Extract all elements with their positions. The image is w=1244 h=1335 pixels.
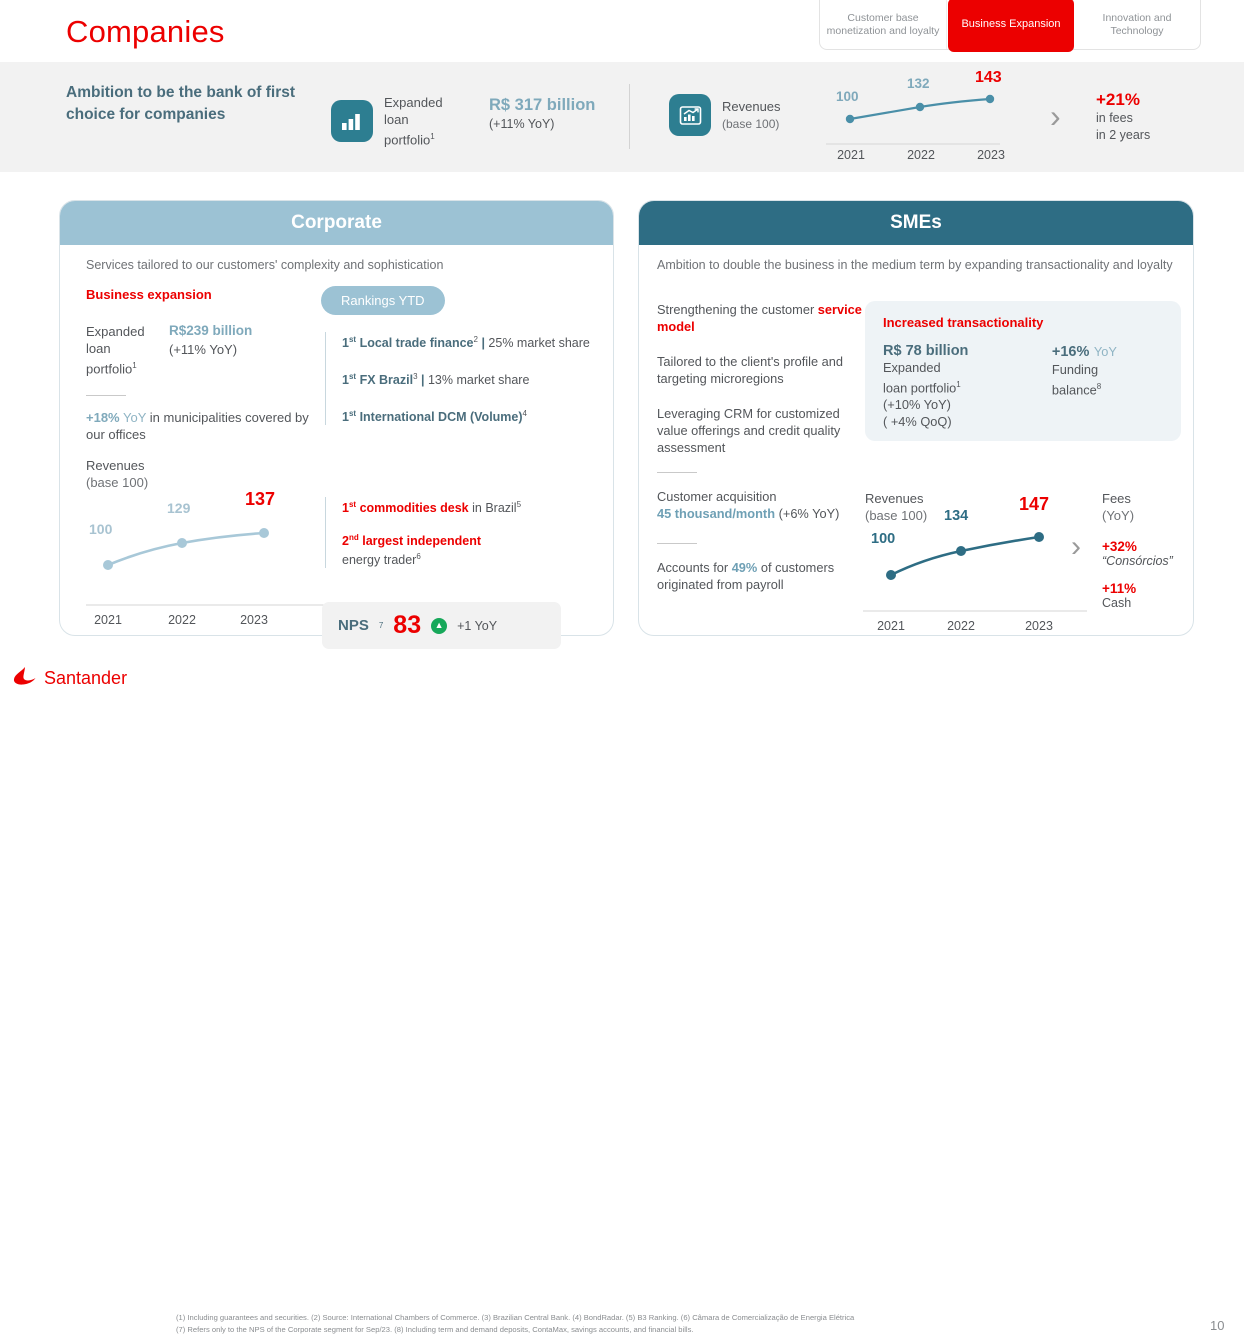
ranking-2-detail: 13% market share bbox=[428, 373, 529, 387]
kpi-loan-label: Expanded loan portfolio1 bbox=[384, 94, 456, 148]
kpi-revenues-sublabel: (base 100) bbox=[722, 117, 779, 131]
highlight-2-rank: 2 bbox=[342, 534, 349, 548]
corporate-loan-value-group: R$239 billion (+11% YoY) bbox=[169, 323, 252, 358]
ranking-item-fx-brazil: 1st FX Brazil3 | 13% market share bbox=[342, 369, 617, 388]
chart-smes-value-2021: 100 bbox=[871, 531, 895, 547]
corporate-municipalities-text: in municipalities covered by our offices bbox=[86, 410, 309, 442]
corporate-loan-l1: Expanded bbox=[86, 324, 145, 339]
page-title: Companies bbox=[66, 14, 225, 50]
transactionality-left-footnote-ref: 1 bbox=[956, 380, 960, 389]
rankings-ytd-pill: Rankings YTD bbox=[321, 286, 445, 315]
chart-header-value-2021: 100 bbox=[836, 89, 859, 104]
corporate-loan-l2: loan bbox=[86, 341, 111, 356]
corporate-rankings-pill-wrap: Rankings YTD bbox=[321, 286, 445, 315]
smes-lead: Ambition to double the business in the m… bbox=[657, 257, 1185, 274]
tab-customer-base-monetization[interactable]: Customer base monetization and loyalty bbox=[820, 0, 946, 49]
footnote-line-2: (7) Refers only to the NPS of the Corpor… bbox=[176, 1324, 1176, 1335]
ranking-2-ord: st bbox=[349, 372, 356, 381]
highlight-commodities-desk: 1st commodities desk in Brazil5 bbox=[342, 497, 617, 516]
bar-chart-icon bbox=[331, 100, 373, 142]
panel-corporate-body: Services tailored to our customers' comp… bbox=[60, 245, 613, 637]
ranking-2-sep: | bbox=[421, 373, 425, 387]
smes-fees-label-group: Fees (YoY) bbox=[1102, 490, 1134, 524]
highlight-1-rank: 1 bbox=[342, 501, 349, 515]
kpi-revenues: Revenues (base 100) bbox=[669, 94, 781, 136]
transactionality-left-l3: (+10% YoY) bbox=[883, 397, 951, 412]
smes-acq-value: 45 thousand/month bbox=[657, 506, 775, 521]
chart-corporate-revenues: 100 129 137 2021 2022 2023 bbox=[84, 495, 352, 635]
highlight-2-ord: nd bbox=[349, 533, 359, 542]
panel-corporate: Corporate Services tailored to our custo… bbox=[59, 200, 614, 636]
panel-smes-title: SMEs bbox=[639, 201, 1193, 245]
nps-box: NPS7 83 ▲ +1 YoY bbox=[322, 602, 561, 649]
corporate-business-expansion-title: Business expansion bbox=[86, 287, 212, 302]
corporate-revenues-label: Revenues bbox=[86, 458, 145, 473]
transactionality-right-suffix: YoY bbox=[1094, 344, 1117, 359]
smes-fee-item-consorcios: +32% “Consórcios” bbox=[1102, 539, 1173, 568]
kpi-loan-value-group: R$ 317 billion (+11% YoY) bbox=[489, 96, 595, 131]
smes-acq-yoy: (+6% YoY) bbox=[779, 506, 840, 521]
corporate-highlights: 1st commodities desk in Brazil5 2nd larg… bbox=[325, 497, 617, 568]
corporate-revenues-sublabel: (base 100) bbox=[86, 475, 148, 490]
transactionality-right-l2: balance bbox=[1052, 382, 1097, 397]
smes-payroll-pct: 49% bbox=[732, 560, 758, 575]
nps-label: NPS bbox=[338, 617, 369, 634]
smes-fee-item-cash: +11% Cash bbox=[1102, 581, 1136, 610]
kpi-revenues-label: Revenues bbox=[722, 99, 781, 114]
corporate-loan-l3: portfolio bbox=[86, 361, 132, 376]
smes-acq-title: Customer acquisition bbox=[657, 489, 777, 504]
transactionality-right: +16% YoY Funding balance8 bbox=[1052, 343, 1163, 430]
ranking-3-ord: st bbox=[349, 409, 356, 418]
highlight-energy-trader: 2nd largest independent energy trader6 bbox=[342, 530, 617, 568]
corporate-loan-value: R$239 billion bbox=[169, 323, 252, 338]
top-bar: Companies Customer base monetization and… bbox=[0, 0, 1244, 62]
chart-smes-value-2022: 134 bbox=[944, 508, 968, 524]
corporate-municipalities-pct: +18% bbox=[86, 410, 120, 425]
transactionality-title: Increased transactionality bbox=[883, 315, 1163, 330]
highlight-2-bold: largest independent bbox=[362, 534, 481, 548]
smes-fee-1-pct: +32% bbox=[1102, 539, 1173, 554]
smes-fee-2-pct: +11% bbox=[1102, 581, 1136, 596]
section-tabs: Customer base monetization and loyalty I… bbox=[819, 0, 1201, 50]
highlight-1-rest: in Brazil bbox=[472, 501, 516, 515]
ranking-1-ord: st bbox=[349, 335, 356, 344]
smes-fee-2-name: Cash bbox=[1102, 596, 1136, 610]
header-fees-highlight: +21% in fees in 2 years bbox=[1096, 90, 1150, 144]
ranking-3-rank: 1 bbox=[342, 410, 349, 424]
transactionality-right-value-group: +16% YoY bbox=[1052, 343, 1163, 361]
smes-customer-acquisition: Customer acquisition 45 thousand/month (… bbox=[657, 488, 872, 522]
chart-header-xtick-2022: 2022 bbox=[903, 148, 939, 162]
corporate-rankings-list: 1st Local trade finance2 | 25% market sh… bbox=[325, 332, 617, 425]
header-fees-line2: in 2 years bbox=[1096, 127, 1150, 144]
chart-smes-value-2023: 147 bbox=[1019, 494, 1049, 515]
kpi-loan-label-l1: Expanded bbox=[384, 95, 443, 110]
chart-smes-revenues: 100 134 147 2021 2022 2023 bbox=[861, 497, 1089, 637]
smes-fee-1-name: “Consórcios” bbox=[1102, 554, 1173, 568]
corporate-loan-footnote-ref: 1 bbox=[132, 361, 136, 370]
highlight-2-rest: energy trader bbox=[342, 553, 416, 567]
ranking-3-name: International DCM (Volume) bbox=[360, 410, 523, 424]
chart-corporate-xtick-2023: 2023 bbox=[234, 613, 274, 627]
chart-corporate-xtick-2021: 2021 bbox=[88, 613, 128, 627]
ranking-1-rank: 1 bbox=[342, 336, 349, 350]
smes-payroll: Accounts for 49% of customers originated… bbox=[657, 559, 857, 593]
nps-delta: +1 YoY bbox=[457, 619, 497, 633]
transactionality-left-lines: Expanded loan portfolio1 (+10% YoY) ( +4… bbox=[883, 359, 1022, 430]
ranking-item-international-dcm: 1st International DCM (Volume)4 bbox=[342, 406, 617, 425]
transactionality-left-l1: Expanded bbox=[883, 360, 941, 375]
transactionality-right-footnote-ref: 8 bbox=[1097, 382, 1101, 391]
ranking-1-name: Local trade finance bbox=[360, 336, 474, 350]
footnote-line-1: (1) Including guarantees and securities.… bbox=[176, 1312, 1176, 1324]
panel-smes-body: Ambition to double the business in the m… bbox=[639, 245, 1193, 637]
chart-smes-xtick-2023: 2023 bbox=[1019, 619, 1059, 633]
arrow-up-circle-icon: ▲ bbox=[431, 618, 447, 634]
corporate-revenues-label-group: Revenues (base 100) bbox=[86, 457, 148, 491]
panel-corporate-title: Corporate bbox=[60, 201, 613, 245]
kpi-loan-yoy: (+11% YoY) bbox=[489, 117, 595, 131]
transactionality-left: R$ 78 billion Expanded loan portfolio1 (… bbox=[883, 343, 1022, 430]
transactionality-right-l1: Funding bbox=[1052, 362, 1098, 377]
ranking-2-name: FX Brazil bbox=[360, 373, 414, 387]
kpi-loan-label-l2: loan bbox=[384, 112, 409, 127]
highlight-1-bold: commodities desk bbox=[360, 501, 469, 515]
corporate-lead: Services tailored to our customers' comp… bbox=[86, 257, 586, 274]
transactionality-left-value: R$ 78 billion bbox=[883, 343, 1022, 359]
santander-logo: Santander bbox=[12, 665, 127, 692]
kpi-revenues-label-group: Revenues (base 100) bbox=[722, 98, 781, 133]
kpi-loan-value: R$ 317 billion bbox=[489, 96, 595, 115]
chart-corporate-value-2021: 100 bbox=[89, 521, 112, 537]
tab-innovation-technology[interactable]: Innovation and Technology bbox=[1073, 0, 1200, 49]
corporate-municipalities-yoy: YoY bbox=[123, 410, 146, 425]
band-divider bbox=[629, 84, 630, 149]
header-fees-line1: in fees bbox=[1096, 110, 1150, 127]
panel-smes: SMEs Ambition to double the business in … bbox=[638, 200, 1194, 636]
chart-smes-xtick-2022: 2022 bbox=[941, 619, 981, 633]
smes-divider-1 bbox=[657, 472, 697, 473]
chart-corporate-xtick-2022: 2022 bbox=[162, 613, 202, 627]
smes-payroll-pre: Accounts for bbox=[657, 560, 732, 575]
corporate-municipalities: +18% YoY in municipalities covered by ou… bbox=[86, 409, 326, 443]
chart-corporate-value-2023: 137 bbox=[245, 489, 275, 510]
chart-header-xtick-2021: 2021 bbox=[833, 148, 869, 162]
smes-bullet-1-plain: Strengthening the customer bbox=[657, 302, 818, 317]
chevron-right-icon-header: › bbox=[1050, 98, 1061, 135]
smes-fees-sublabel: (YoY) bbox=[1102, 508, 1134, 523]
slide-root: Companies Customer base monetization and… bbox=[0, 0, 1244, 697]
ambition-statement: Ambition to be the bank of first choice … bbox=[66, 82, 296, 126]
smes-fees-label: Fees bbox=[1102, 491, 1131, 506]
chart-corporate-value-2022: 129 bbox=[167, 500, 190, 516]
kpi-loan-label-l3: portfolio bbox=[384, 132, 430, 147]
santander-flame-icon bbox=[12, 665, 38, 692]
chart-header-value-2023: 143 bbox=[975, 69, 1002, 87]
transactionality-right-lines: Funding balance8 bbox=[1052, 361, 1163, 398]
smes-bullet-client-profile: Tailored to the client's profile and tar… bbox=[657, 353, 867, 387]
ranking-3-footnote-ref: 4 bbox=[523, 409, 527, 418]
chevron-right-icon-smes: › bbox=[1071, 530, 1081, 564]
corporate-loan-yoy: (+11% YoY) bbox=[169, 341, 252, 358]
tab-business-expansion[interactable]: Business Expansion bbox=[948, 0, 1074, 52]
chart-header-xtick-2023: 2023 bbox=[973, 148, 1009, 162]
transactionality-left-l4: ( +4% QoQ) bbox=[883, 414, 952, 429]
transactionality-right-value: +16% bbox=[1052, 344, 1090, 360]
ranking-1-detail: 25% market share bbox=[488, 336, 589, 350]
chart-header-value-2022: 132 bbox=[907, 76, 930, 91]
santander-wordmark: Santander bbox=[44, 668, 127, 689]
smes-divider-2 bbox=[657, 543, 697, 544]
highlight-2-footnote-ref: 6 bbox=[416, 552, 420, 561]
nps-footnote-ref: 7 bbox=[379, 621, 383, 630]
footnotes: (1) Including guarantees and securities.… bbox=[176, 1312, 1176, 1335]
footer: Santander (1) Including guarantees and s… bbox=[0, 652, 1244, 697]
kpi-expanded-loan-portfolio: Expanded loan portfolio1 bbox=[331, 94, 456, 148]
corporate-loan-label: Expanded loan portfolio1 bbox=[86, 323, 145, 377]
highlight-1-footnote-ref: 5 bbox=[517, 500, 521, 509]
smes-bullet-service-model: Strengthening the customer service model bbox=[657, 301, 867, 335]
smes-bullet-crm: Leveraging CRM for customized value offe… bbox=[657, 405, 867, 456]
nps-value: 83 bbox=[393, 611, 421, 640]
ranking-item-local-trade-finance: 1st Local trade finance2 | 25% market sh… bbox=[342, 332, 617, 351]
highlight-1-ord: st bbox=[349, 500, 356, 509]
growth-chart-icon bbox=[669, 94, 711, 136]
corporate-divider-1 bbox=[86, 395, 126, 396]
chart-header-revenues: 100 132 143 2021 2022 2023 bbox=[820, 72, 1020, 164]
ranking-2-rank: 1 bbox=[342, 373, 349, 387]
chart-smes-xtick-2021: 2021 bbox=[871, 619, 911, 633]
page-number: 10 bbox=[1210, 1318, 1224, 1333]
increased-transactionality-box: Increased transactionality R$ 78 billion… bbox=[865, 301, 1181, 441]
ranking-1-footnote-ref: 2 bbox=[474, 335, 478, 344]
header-fees-pct: +21% bbox=[1096, 90, 1150, 110]
transactionality-left-l2: loan portfolio bbox=[883, 380, 956, 395]
kpi-loan-footnote-ref: 1 bbox=[430, 132, 434, 141]
ranking-1-sep: | bbox=[481, 336, 485, 350]
ranking-2-footnote-ref: 3 bbox=[413, 372, 417, 381]
